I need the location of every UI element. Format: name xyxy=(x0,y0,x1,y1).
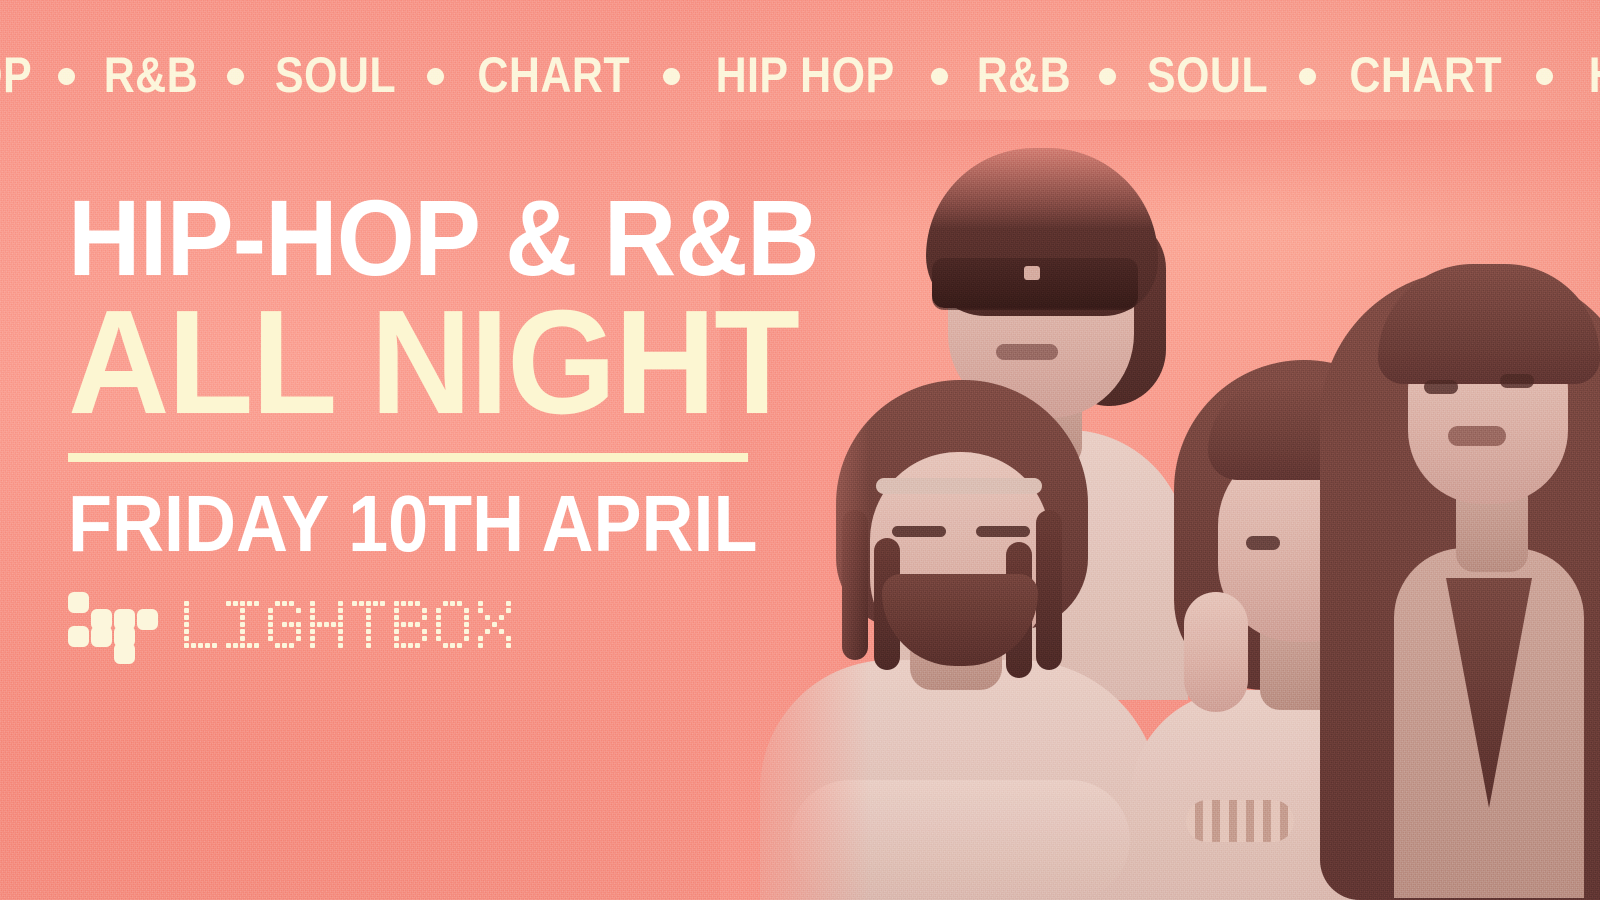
pearl-bracelet xyxy=(1186,800,1294,842)
lightbox-pixel-mark-icon xyxy=(68,592,160,658)
headband xyxy=(876,478,1042,494)
crossed-arms xyxy=(790,780,1130,900)
divider-rule xyxy=(68,453,748,462)
logo-letter xyxy=(268,601,301,648)
logo-letter xyxy=(226,601,259,648)
logo-letter xyxy=(394,601,427,648)
logo-letter xyxy=(478,601,511,648)
eye-left xyxy=(1246,536,1280,550)
headline-line-2: ALL NIGHT xyxy=(68,294,733,432)
ticker-genre: R&B xyxy=(102,50,200,100)
logo-letter xyxy=(310,601,343,648)
event-poster: OPR&BSOULCHARTHIP HOPR&BSOULCHARTHIP HOP… xyxy=(0,0,1600,900)
loc-strand xyxy=(1036,510,1062,670)
logo-letter xyxy=(352,601,385,648)
mouth xyxy=(1448,426,1506,446)
artist-collage xyxy=(720,120,1600,900)
ticker-genre: SOUL xyxy=(273,50,398,100)
lightbox-wordmark: LIGHTBOX xyxy=(184,602,511,648)
headline-block: HIP-HOP & R&B ALL NIGHT FRIDAY 10TH APRI… xyxy=(68,186,768,658)
logo-letter xyxy=(436,601,469,648)
ticker-genre: CHART xyxy=(1348,50,1504,100)
ticker-separator-dot xyxy=(1536,68,1553,85)
genre-ticker: OPR&BSOULCHARTHIP HOPR&BSOULCHARTHIP HOP… xyxy=(0,44,1600,106)
mouth xyxy=(996,344,1058,360)
eye-left xyxy=(1424,380,1458,394)
logo-letter xyxy=(184,601,217,648)
eyebrow-left xyxy=(892,526,946,537)
sunglasses-bridge xyxy=(1024,266,1040,280)
event-date: FRIDAY 10TH APRIL xyxy=(68,484,698,564)
ticker-separator-dot xyxy=(1099,68,1116,85)
eyebrow-right xyxy=(976,526,1030,537)
logo-pixel xyxy=(137,609,158,630)
loc-strand xyxy=(842,510,868,660)
ticker-genre: CHART xyxy=(476,50,632,100)
eye-right xyxy=(1500,374,1534,388)
ticker-separator-dot xyxy=(931,68,948,85)
ticker-separator-dot xyxy=(1299,68,1316,85)
ticker-separator-dot xyxy=(663,68,680,85)
hand-left xyxy=(1184,592,1248,712)
genre-ticker-track: OPR&BSOULCHARTHIP HOPR&BSOULCHARTHIP HOP… xyxy=(0,50,1600,100)
logo-pixel xyxy=(91,626,112,647)
ticker-separator-dot xyxy=(427,68,444,85)
lightbox-logo: LIGHTBOX xyxy=(68,592,768,658)
logo-pixel xyxy=(68,626,89,647)
headline-line-1: HIP-HOP & R&B xyxy=(68,186,719,290)
logo-pixel xyxy=(68,592,89,613)
artist-right xyxy=(1320,180,1600,900)
ticker-genre: R&B xyxy=(975,50,1073,100)
ticker-genre: HIP HOP xyxy=(714,50,896,100)
ticker-separator-dot xyxy=(58,68,75,85)
ticker-genre: HIP HOP xyxy=(1587,50,1600,100)
ticker-genre: SOUL xyxy=(1146,50,1271,100)
ticker-genre: OP xyxy=(0,50,34,100)
logo-pixel xyxy=(114,643,135,664)
ticker-separator-dot xyxy=(227,68,244,85)
